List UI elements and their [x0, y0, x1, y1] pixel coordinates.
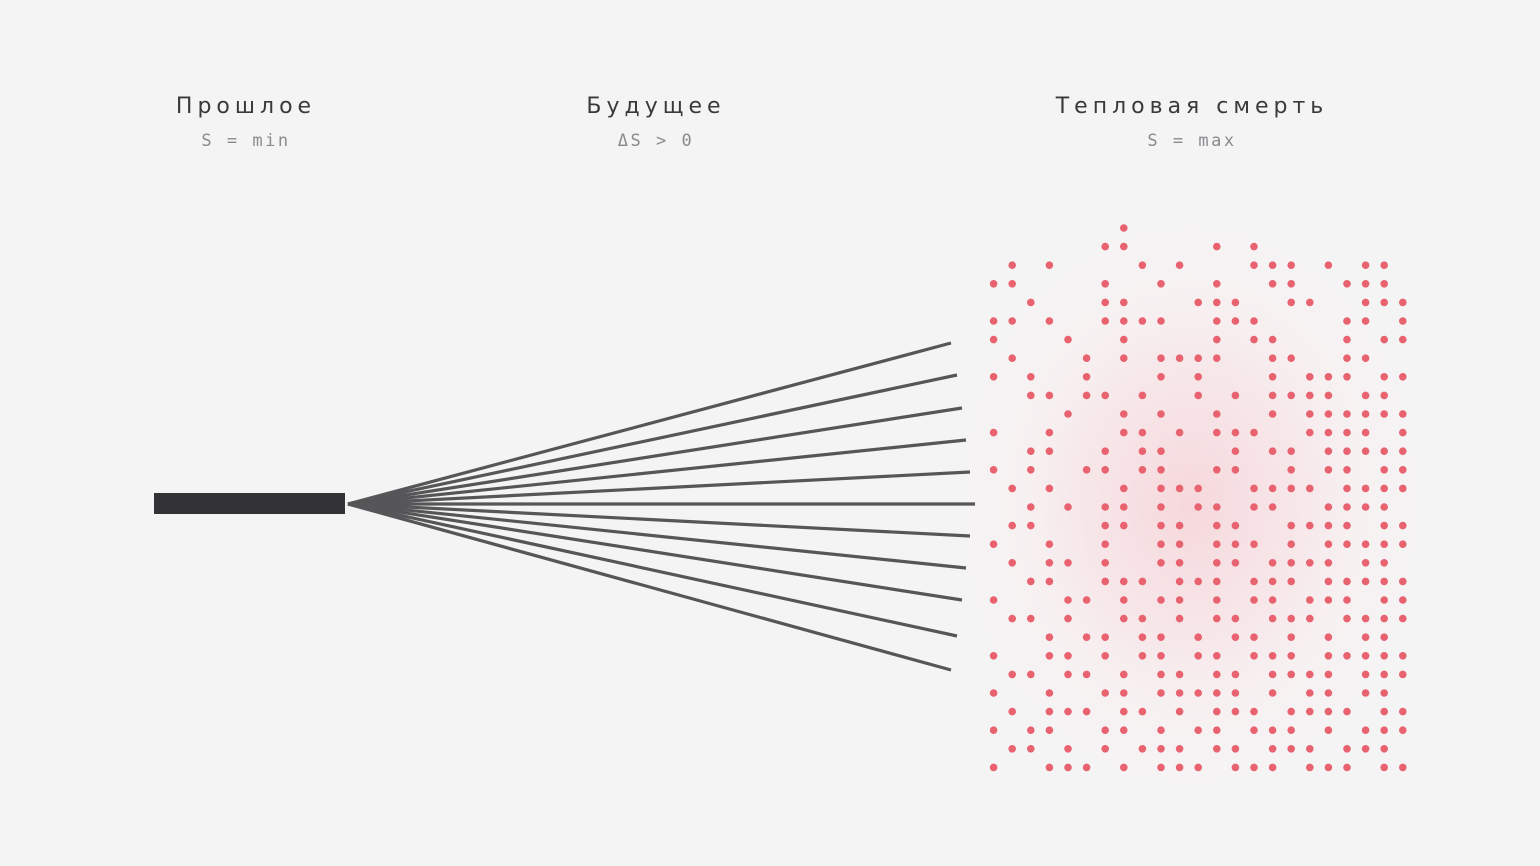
particle-dot	[990, 726, 998, 734]
particle-dot	[1362, 392, 1370, 400]
particle-dot	[1232, 299, 1240, 307]
particle-dot	[1399, 522, 1407, 530]
particle-dot	[1287, 559, 1295, 567]
particle-dot	[1046, 633, 1054, 641]
particle-dot	[1213, 466, 1221, 474]
particle-dot	[1101, 652, 1109, 660]
particle-dot	[1399, 596, 1407, 604]
particle-dot	[1380, 373, 1388, 381]
particle-dot	[1380, 764, 1388, 772]
particle-dot	[1362, 615, 1370, 623]
particle-dot	[1232, 633, 1240, 641]
particle-dot	[1083, 373, 1091, 381]
particle-dot	[1380, 633, 1388, 641]
particle-dot	[1120, 764, 1128, 772]
particle-dot	[1213, 726, 1221, 734]
particle-dot	[1139, 708, 1147, 716]
ordered-state-bar	[154, 493, 345, 514]
particle-dot	[1399, 485, 1407, 493]
particle-dot	[990, 764, 998, 772]
particle-dot	[1064, 503, 1072, 511]
particle-dot	[1362, 726, 1370, 734]
particle-dot	[1343, 336, 1351, 344]
particle-dot	[1380, 522, 1388, 530]
particle-dot	[1325, 540, 1333, 548]
particle-dot	[1250, 652, 1258, 660]
particle-dot	[1101, 243, 1109, 251]
particle-dot	[1399, 410, 1407, 418]
particle-dot	[1120, 243, 1128, 251]
particle-dot	[990, 652, 998, 660]
particle-dot	[1213, 578, 1221, 586]
particle-dot	[1046, 708, 1054, 716]
particle-dot	[1287, 726, 1295, 734]
particle-dot	[1101, 522, 1109, 530]
particle-dot	[1064, 596, 1072, 604]
particle-dot	[1380, 299, 1388, 307]
particle-dot	[1157, 633, 1165, 641]
particle-dot	[1287, 671, 1295, 679]
particle-dot	[1101, 466, 1109, 474]
particle-dot	[1287, 261, 1295, 269]
particle-dot	[1213, 336, 1221, 344]
particle-dot	[1269, 764, 1277, 772]
particle-dot	[1343, 429, 1351, 437]
particle-dot	[1139, 429, 1147, 437]
particle-dot	[1027, 615, 1035, 623]
particle-dot	[1362, 652, 1370, 660]
particle-dot	[1176, 559, 1184, 567]
particle-dot	[1101, 447, 1109, 455]
particle-dot	[1380, 503, 1388, 511]
particle-dot	[1157, 466, 1165, 474]
particle-dot	[1287, 466, 1295, 474]
particle-dot	[1380, 671, 1388, 679]
particle-dot	[1325, 671, 1333, 679]
particle-dot	[1176, 596, 1184, 604]
stage-label-past: Прошлое S = min	[86, 94, 406, 151]
particle-dot	[1343, 485, 1351, 493]
particle-dot	[1343, 373, 1351, 381]
particle-dot	[1157, 540, 1165, 548]
particle-dot	[1046, 540, 1054, 548]
particle-dot	[1157, 522, 1165, 530]
particle-dot	[1194, 764, 1202, 772]
particle-dot	[1250, 503, 1258, 511]
particle-dot	[1306, 522, 1314, 530]
particle-dot	[1287, 485, 1295, 493]
particle-dot	[1362, 633, 1370, 641]
particle-dot	[990, 373, 998, 381]
particle-dot	[1362, 671, 1370, 679]
particle-dot	[1325, 559, 1333, 567]
particle-dot	[1325, 466, 1333, 474]
stage-label-heat-death: Тепловая смерть S = max	[1032, 94, 1352, 151]
particle-dot	[1064, 708, 1072, 716]
particle-dot	[1343, 596, 1351, 604]
particle-dot	[1399, 652, 1407, 660]
particle-dot	[1269, 410, 1277, 418]
particle-dot	[1399, 336, 1407, 344]
particle-dot	[1194, 354, 1202, 362]
particle-dot	[1250, 429, 1258, 437]
particle-dot	[1343, 652, 1351, 660]
particle-dot	[990, 429, 998, 437]
particle-dot	[1157, 559, 1165, 567]
particle-dot	[1250, 243, 1258, 251]
particle-dot	[1269, 336, 1277, 344]
fan-line-3	[348, 440, 966, 504]
particle-dot	[1120, 354, 1128, 362]
stage-label-future: Будущее ΔS > 0	[496, 94, 816, 151]
particle-dot	[1287, 447, 1295, 455]
particle-dot	[1176, 354, 1184, 362]
particle-dot	[1380, 708, 1388, 716]
particle-dot	[1008, 317, 1016, 325]
particle-dot	[1399, 671, 1407, 679]
particle-dot	[1213, 559, 1221, 567]
particle-dot	[1120, 317, 1128, 325]
entropy-fan-lines	[348, 343, 975, 670]
particle-dot	[1046, 429, 1054, 437]
particle-dot	[1064, 671, 1072, 679]
particle-dot	[1269, 745, 1277, 753]
particle-dot	[1362, 429, 1370, 437]
particle-dot	[1213, 429, 1221, 437]
particle-dot	[1306, 708, 1314, 716]
particle-dot	[1083, 671, 1091, 679]
particle-dot	[1306, 299, 1314, 307]
particle-dot	[1101, 578, 1109, 586]
particle-dot	[1120, 689, 1128, 697]
particle-dot	[1101, 392, 1109, 400]
particle-dot	[1176, 671, 1184, 679]
particle-dot	[1269, 559, 1277, 567]
particle-dot	[1157, 671, 1165, 679]
particle-dot	[1194, 578, 1202, 586]
particle-dot	[1157, 596, 1165, 604]
particle-dot	[1287, 652, 1295, 660]
particle-dot	[1139, 261, 1147, 269]
particle-dot	[1325, 392, 1333, 400]
particle-dot	[1157, 485, 1165, 493]
particle-dot	[1250, 764, 1258, 772]
particle-dot	[1269, 261, 1277, 269]
particle-dot	[1046, 689, 1054, 697]
particle-dot	[1064, 615, 1072, 623]
particle-dot	[1250, 708, 1258, 716]
particle-dot	[1399, 615, 1407, 623]
particle-dot	[1046, 447, 1054, 455]
particle-dot	[1232, 745, 1240, 753]
stage-formula-future: ΔS > 0	[496, 131, 816, 151]
particle-dot	[1325, 726, 1333, 734]
particle-dot	[1027, 373, 1035, 381]
particle-dot	[1362, 578, 1370, 586]
particle-dot	[1176, 429, 1184, 437]
particle-dot	[1269, 280, 1277, 288]
particle-dot	[1380, 652, 1388, 660]
particle-dot	[1343, 447, 1351, 455]
particle-dot	[1325, 689, 1333, 697]
particle-dot	[1325, 652, 1333, 660]
particle-dot	[1027, 466, 1035, 474]
particle-dot	[1362, 261, 1370, 269]
particle-dot	[1213, 708, 1221, 716]
particle-dot	[1343, 503, 1351, 511]
particle-dot	[1194, 652, 1202, 660]
particle-dot	[1027, 299, 1035, 307]
particle-dot	[1101, 633, 1109, 641]
particle-dot	[1399, 429, 1407, 437]
particle-dot	[1380, 689, 1388, 697]
particle-dot	[1157, 652, 1165, 660]
particle-dot	[1380, 485, 1388, 493]
particle-dot	[1157, 280, 1165, 288]
particle-dot	[1343, 745, 1351, 753]
particle-dot	[1194, 633, 1202, 641]
particle-dot	[1139, 392, 1147, 400]
particle-dot	[1306, 392, 1314, 400]
particle-dot	[1083, 764, 1091, 772]
particle-dot	[1306, 429, 1314, 437]
particle-dot	[1287, 540, 1295, 548]
particle-dot	[1343, 410, 1351, 418]
particle-dot	[1008, 559, 1016, 567]
particle-dot	[1046, 392, 1054, 400]
particle-dot	[1343, 540, 1351, 548]
particle-dot	[1157, 745, 1165, 753]
particle-dot	[1083, 466, 1091, 474]
particle-dot	[1287, 354, 1295, 362]
particle-dot	[1287, 633, 1295, 641]
particle-dot	[1008, 485, 1016, 493]
particle-dot	[1380, 466, 1388, 474]
particle-dot	[1380, 559, 1388, 567]
particle-dot	[1213, 410, 1221, 418]
particle-dot	[1343, 354, 1351, 362]
particle-dot	[1306, 745, 1314, 753]
particle-dot	[1101, 745, 1109, 753]
particle-dot	[1399, 317, 1407, 325]
ordered-bar-rect	[154, 493, 345, 514]
particle-dot	[1064, 559, 1072, 567]
particle-dot	[1380, 410, 1388, 418]
particle-dot	[1139, 578, 1147, 586]
particle-dot	[1325, 578, 1333, 586]
particle-dot	[1306, 373, 1314, 381]
particle-dot	[1157, 373, 1165, 381]
particle-dot	[1213, 689, 1221, 697]
particle-dot	[990, 689, 998, 697]
particle-dot	[1380, 596, 1388, 604]
particle-dot	[1380, 615, 1388, 623]
particle-dot	[1362, 317, 1370, 325]
particle-dot	[1380, 745, 1388, 753]
particle-dot	[1176, 540, 1184, 548]
particle-dot	[1325, 261, 1333, 269]
particle-dot	[1139, 633, 1147, 641]
particle-dot	[1083, 708, 1091, 716]
particle-dot	[1120, 671, 1128, 679]
particle-dot	[1362, 354, 1370, 362]
particle-dot	[1325, 410, 1333, 418]
particle-dot	[1232, 559, 1240, 567]
particle-dot	[1176, 261, 1184, 269]
particle-dot	[1101, 503, 1109, 511]
particle-dot	[1343, 317, 1351, 325]
particle-dot	[1213, 596, 1221, 604]
particle-dot	[1362, 540, 1370, 548]
particle-dot	[1046, 485, 1054, 493]
particle-dot	[1083, 392, 1091, 400]
particle-dot	[1343, 764, 1351, 772]
particle-dot	[1046, 726, 1054, 734]
particle-dot	[1232, 615, 1240, 623]
particle-dot	[1046, 578, 1054, 586]
particle-dot	[1213, 522, 1221, 530]
particle-dot	[1120, 503, 1128, 511]
particle-dot	[1139, 615, 1147, 623]
particle-dot	[1362, 280, 1370, 288]
particle-dot	[1157, 503, 1165, 511]
particle-dot	[1064, 336, 1072, 344]
particle-dot	[1101, 559, 1109, 567]
particle-dot	[1287, 299, 1295, 307]
particle-dot	[1380, 280, 1388, 288]
particle-dot	[1176, 578, 1184, 586]
particle-dot	[1399, 447, 1407, 455]
heat-death-glow	[945, 205, 1435, 805]
particle-dot	[1176, 689, 1184, 697]
particle-dot	[1380, 261, 1388, 269]
particle-dot	[1343, 466, 1351, 474]
particle-dot	[1008, 261, 1016, 269]
particle-dot	[1213, 652, 1221, 660]
particle-dot	[1120, 224, 1128, 232]
particle-dot	[990, 466, 998, 474]
particle-dot	[1399, 708, 1407, 716]
particle-dot	[1232, 447, 1240, 455]
particle-dot	[1325, 429, 1333, 437]
particle-dot	[1232, 522, 1240, 530]
particle-dot	[1399, 373, 1407, 381]
particle-dot	[1380, 447, 1388, 455]
particle-dot	[1306, 615, 1314, 623]
particle-dot	[1306, 596, 1314, 604]
particle-dot	[1120, 522, 1128, 530]
particle-dot	[1362, 689, 1370, 697]
particle-dot	[1250, 261, 1258, 269]
particle-dot	[1120, 336, 1128, 344]
particle-dot	[1287, 280, 1295, 288]
particle-dot	[1343, 522, 1351, 530]
particle-dot	[1250, 336, 1258, 344]
particle-dot	[1399, 764, 1407, 772]
particle-dot	[1139, 317, 1147, 325]
particle-dot	[1213, 280, 1221, 288]
particle-dot	[990, 317, 998, 325]
particle-dot	[1306, 485, 1314, 493]
particle-dot	[1120, 726, 1128, 734]
particle-dot	[1269, 652, 1277, 660]
particle-dot	[1101, 540, 1109, 548]
particle-dot	[1157, 354, 1165, 362]
stage-title-future: Будущее	[496, 94, 816, 119]
particle-dot	[1027, 578, 1035, 586]
particle-dot	[1232, 392, 1240, 400]
particle-dot	[1325, 522, 1333, 530]
particle-dot	[1008, 708, 1016, 716]
particle-dot	[1101, 299, 1109, 307]
stage-title-past: Прошлое	[86, 94, 406, 119]
entropy-diagram-canvas: Прошлое S = min Будущее ΔS > 0 Тепловая …	[0, 0, 1540, 866]
particle-dot	[1120, 429, 1128, 437]
particle-dot	[1399, 578, 1407, 586]
particle-dot	[1287, 522, 1295, 530]
particle-dot	[1269, 596, 1277, 604]
particle-dot	[1380, 336, 1388, 344]
particle-dot	[1046, 652, 1054, 660]
particle-dot	[1157, 410, 1165, 418]
particle-dot	[1325, 633, 1333, 641]
fan-line-1	[348, 375, 957, 504]
particle-dot	[1269, 447, 1277, 455]
particle-dot	[1213, 503, 1221, 511]
particle-dot	[1194, 299, 1202, 307]
particle-dot	[1139, 745, 1147, 753]
particle-dot	[1046, 559, 1054, 567]
particle-dot	[1176, 708, 1184, 716]
particle-dot	[990, 596, 998, 604]
particle-dot	[1325, 447, 1333, 455]
particle-dot	[1157, 447, 1165, 455]
particle-dot	[1083, 596, 1091, 604]
particle-dot	[1027, 671, 1035, 679]
particle-dot	[1213, 540, 1221, 548]
particle-dot	[1287, 745, 1295, 753]
particle-dot	[1287, 578, 1295, 586]
particle-dot	[1213, 671, 1221, 679]
particle-dot	[1362, 559, 1370, 567]
particle-dot	[1083, 354, 1091, 362]
particle-dot	[1306, 671, 1314, 679]
particle-dot	[1325, 373, 1333, 381]
particle-dot	[1343, 615, 1351, 623]
particle-dot	[1250, 633, 1258, 641]
particle-dot	[1250, 596, 1258, 604]
particle-dot	[1213, 317, 1221, 325]
particle-dot	[1269, 485, 1277, 493]
particle-dot	[1269, 689, 1277, 697]
particle-dot	[1362, 503, 1370, 511]
particle-dot	[1213, 243, 1221, 251]
particle-dot	[1176, 615, 1184, 623]
particle-dot	[990, 280, 998, 288]
particle-dot	[1213, 354, 1221, 362]
particle-dot	[1101, 726, 1109, 734]
particle-dot	[1232, 317, 1240, 325]
particle-dot	[1343, 578, 1351, 586]
particle-dot	[1027, 447, 1035, 455]
particle-dot	[1325, 764, 1333, 772]
particle-dot	[1213, 615, 1221, 623]
particle-dot	[1120, 485, 1128, 493]
particle-dot	[1064, 410, 1072, 418]
particle-dot	[1027, 726, 1035, 734]
particle-dot	[1176, 745, 1184, 753]
particle-dot	[1269, 503, 1277, 511]
